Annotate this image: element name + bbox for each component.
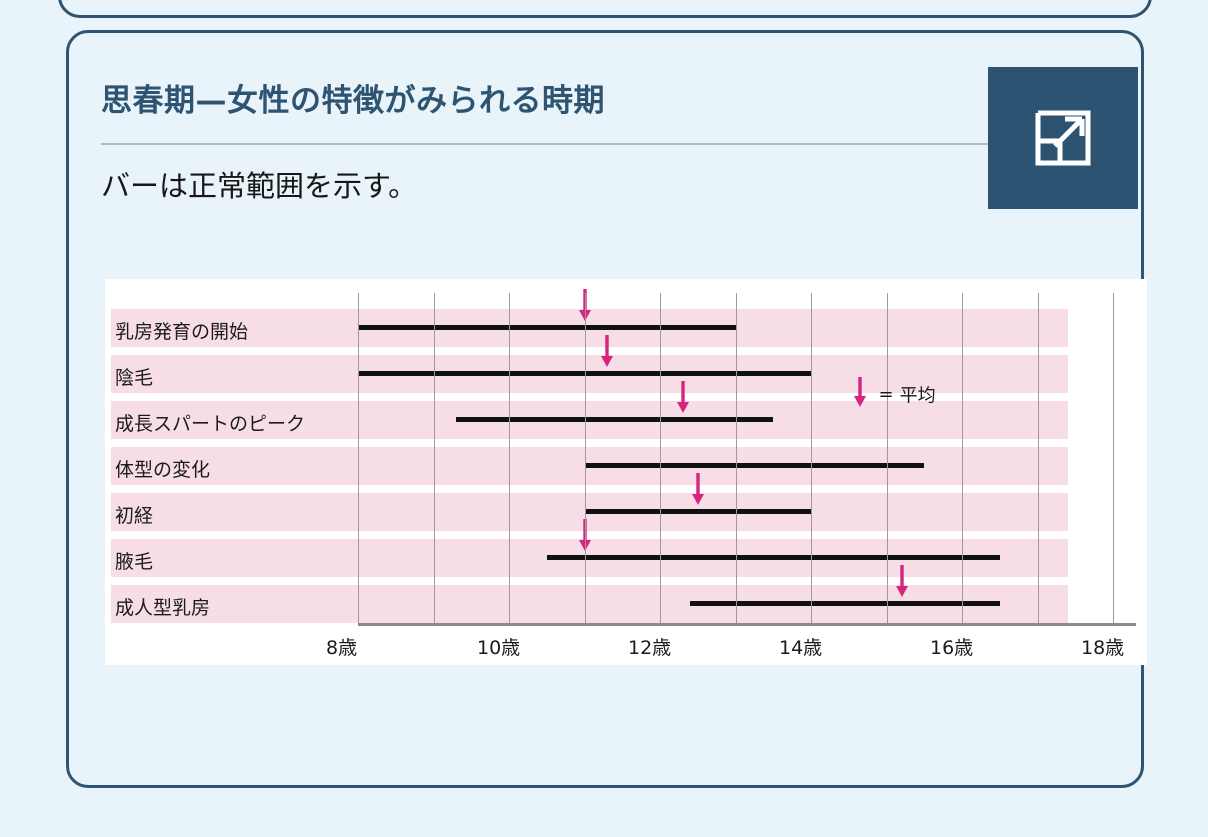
chart-x-tick-label: 14歳 — [779, 633, 822, 660]
mean-arrow-icon — [600, 333, 614, 367]
expand-image-button[interactable] — [988, 67, 1138, 209]
chart-x-tick-label: 18歳 — [1081, 633, 1124, 660]
chart-gridline — [434, 293, 435, 623]
figure-card: 思春期—女性の特徴がみられる時期 バーは正常範囲を示す。 乳房発育の開始陰毛成長… — [66, 30, 1144, 788]
chart-range-bar — [456, 417, 773, 422]
legend-equals: = — [879, 384, 894, 405]
mean-arrow-icon — [691, 471, 705, 505]
chart-gridline — [358, 293, 359, 623]
legend-label: 平均 — [900, 386, 936, 407]
chart-row-label: 体型の変化 — [115, 455, 210, 482]
chart-row-label: 陰毛 — [115, 363, 153, 390]
card-top-partial — [58, 0, 1152, 18]
chart-x-tick-label: 16歳 — [930, 633, 973, 660]
chart-row-label: 腋毛 — [115, 547, 153, 574]
chart-gridline — [962, 293, 963, 623]
chart-range-bar — [358, 325, 736, 330]
chart-x-axis — [358, 623, 1136, 626]
chart-row-label: 成長スパートのピーク — [115, 409, 305, 436]
chart-range-bar — [585, 463, 925, 468]
chart-row-label: 乳房発育の開始 — [115, 317, 248, 344]
chart-row-label: 初経 — [115, 501, 153, 528]
chart-gridline — [509, 293, 510, 623]
chart-legend: =平均 — [853, 375, 936, 414]
chart-gridline — [1038, 293, 1039, 623]
chart-gridline — [811, 293, 812, 623]
chart-row-label: 成人型乳房 — [115, 593, 210, 620]
chart-panel: 乳房発育の開始陰毛成長スパートのピーク体型の変化初経腋毛成人型乳房8歳10歳12… — [105, 279, 1147, 665]
page-title: 思春期—女性の特徴がみられる時期 — [101, 75, 605, 120]
chart-gridline — [1113, 293, 1114, 623]
expand-arrow-icon — [1030, 105, 1096, 171]
chart-x-tick-label: 10歳 — [477, 633, 520, 660]
chart-range-bar — [547, 555, 1000, 560]
screenshot-root: 思春期—女性の特徴がみられる時期 バーは正常範囲を示す。 乳房発育の開始陰毛成長… — [0, 0, 1208, 837]
mean-arrow-icon — [676, 379, 690, 413]
chart-gridline — [887, 293, 888, 623]
chart-range-bar — [690, 601, 1000, 606]
chart-x-tick-label: 12歳 — [628, 633, 671, 660]
chart-gridline — [585, 293, 586, 623]
chart-x-tick-label: 8歳 — [326, 633, 357, 660]
chart-range-bar — [585, 509, 812, 514]
figure-caption: バーは正常範囲を示す。 — [101, 163, 417, 205]
legend-arrow-icon — [853, 375, 867, 414]
title-divider — [101, 143, 1109, 145]
mean-arrow-icon — [895, 563, 909, 597]
chart-gridline — [660, 293, 661, 623]
chart-plot-area: 乳房発育の開始陰毛成長スパートのピーク体型の変化初経腋毛成人型乳房8歳10歳12… — [105, 279, 1147, 665]
chart-gridline — [736, 293, 737, 623]
